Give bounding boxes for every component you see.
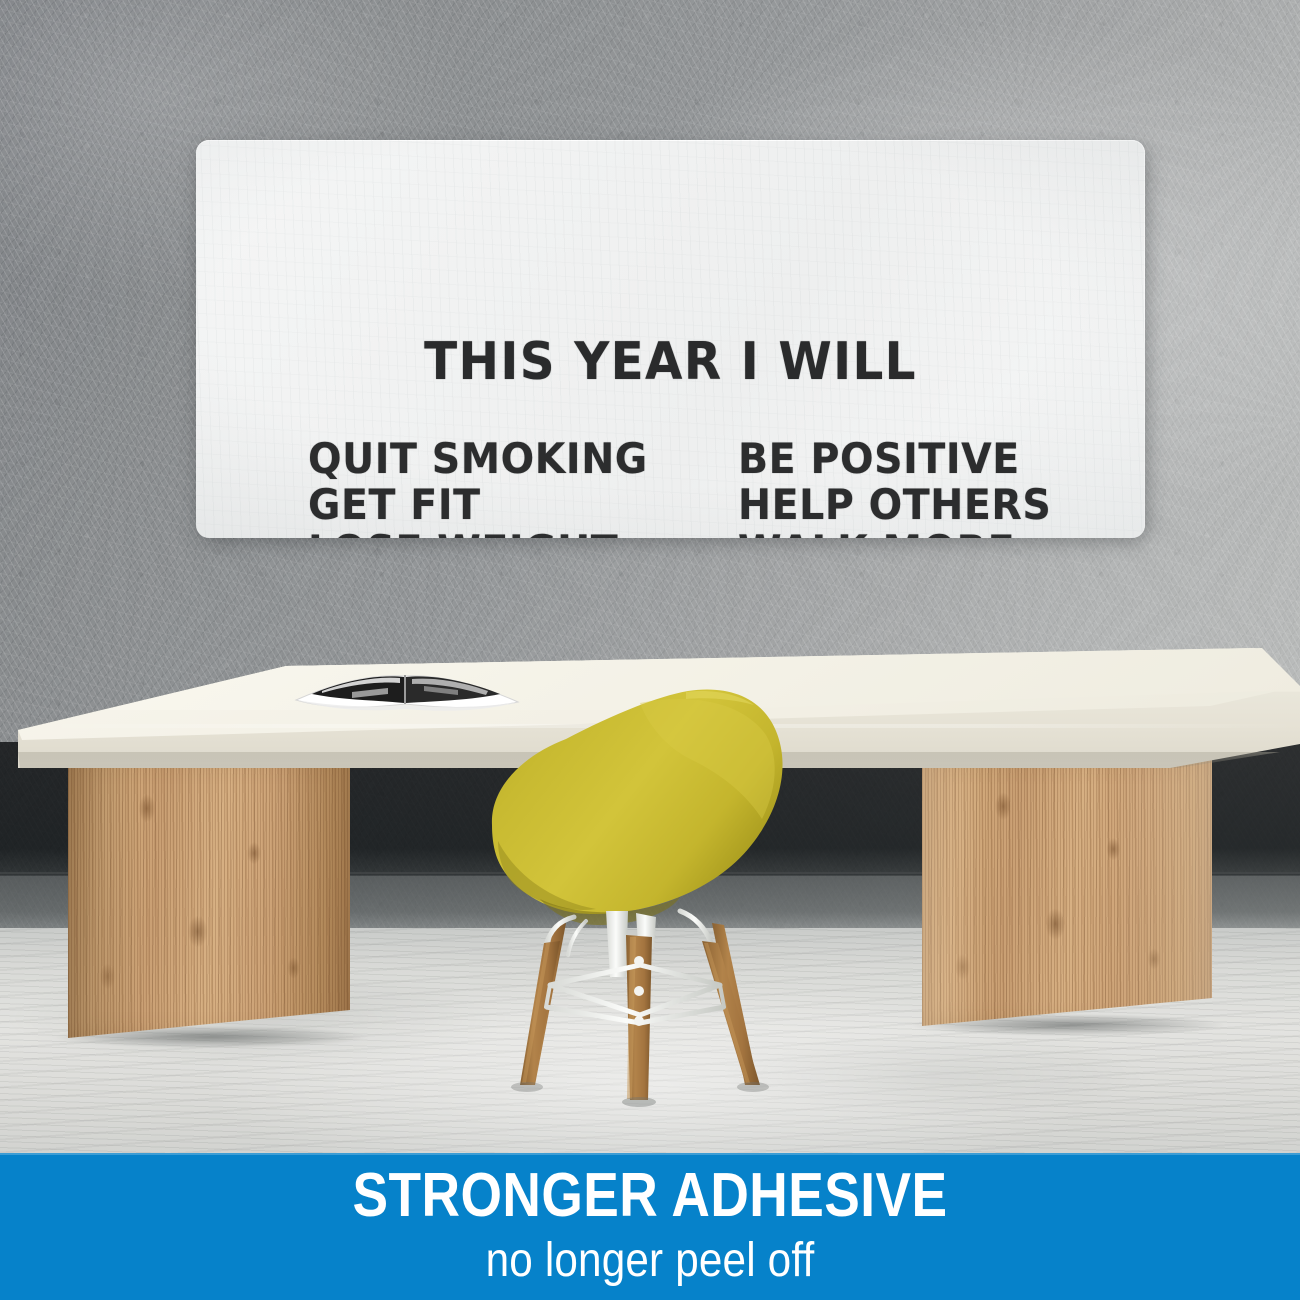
table-leg-right-shading xyxy=(922,758,1212,1026)
list-item: HELP OTHERS xyxy=(738,482,1051,528)
whiteboard-lists: QUIT SMOKING GET FIT LOSE WEIGHT LESS AL… xyxy=(196,436,1145,538)
resolution-list-right: BE POSITIVE HELP OTHERS WALK MORE SAVE M… xyxy=(738,436,1051,538)
product-scene: THIS YEAR I WILL QUIT SMOKING GET FIT LO… xyxy=(0,0,1300,1300)
list-item: BE POSITIVE xyxy=(738,436,1051,482)
chair-strut-upper-right xyxy=(680,911,712,945)
chair-screw xyxy=(634,1016,644,1026)
list-item: LOSE WEIGHT xyxy=(308,528,648,538)
whiteboard-decal[interactable]: THIS YEAR I WILL QUIT SMOKING GET FIT LO… xyxy=(196,140,1145,538)
banner-top-rule xyxy=(0,1153,1300,1155)
banner-subline: no longer peel off xyxy=(78,1235,1222,1287)
list-item: GET FIT xyxy=(308,482,648,528)
chair-screw xyxy=(634,956,644,966)
chair-screw xyxy=(634,986,644,996)
banner-headline: STRONGER ADHESIVE xyxy=(91,1163,1209,1229)
table-leg-left-shading xyxy=(68,758,350,1038)
list-item: QUIT SMOKING xyxy=(308,436,648,482)
whiteboard-title: THIS YEAR I WILL xyxy=(229,332,1112,392)
list-item: WALK MORE xyxy=(738,528,1051,538)
yellow-shell-chair xyxy=(480,655,830,1135)
resolution-list-left: QUIT SMOKING GET FIT LOSE WEIGHT LESS AL… xyxy=(308,436,648,538)
promo-banner: STRONGER ADHESIVE no longer peel off xyxy=(0,1153,1300,1300)
